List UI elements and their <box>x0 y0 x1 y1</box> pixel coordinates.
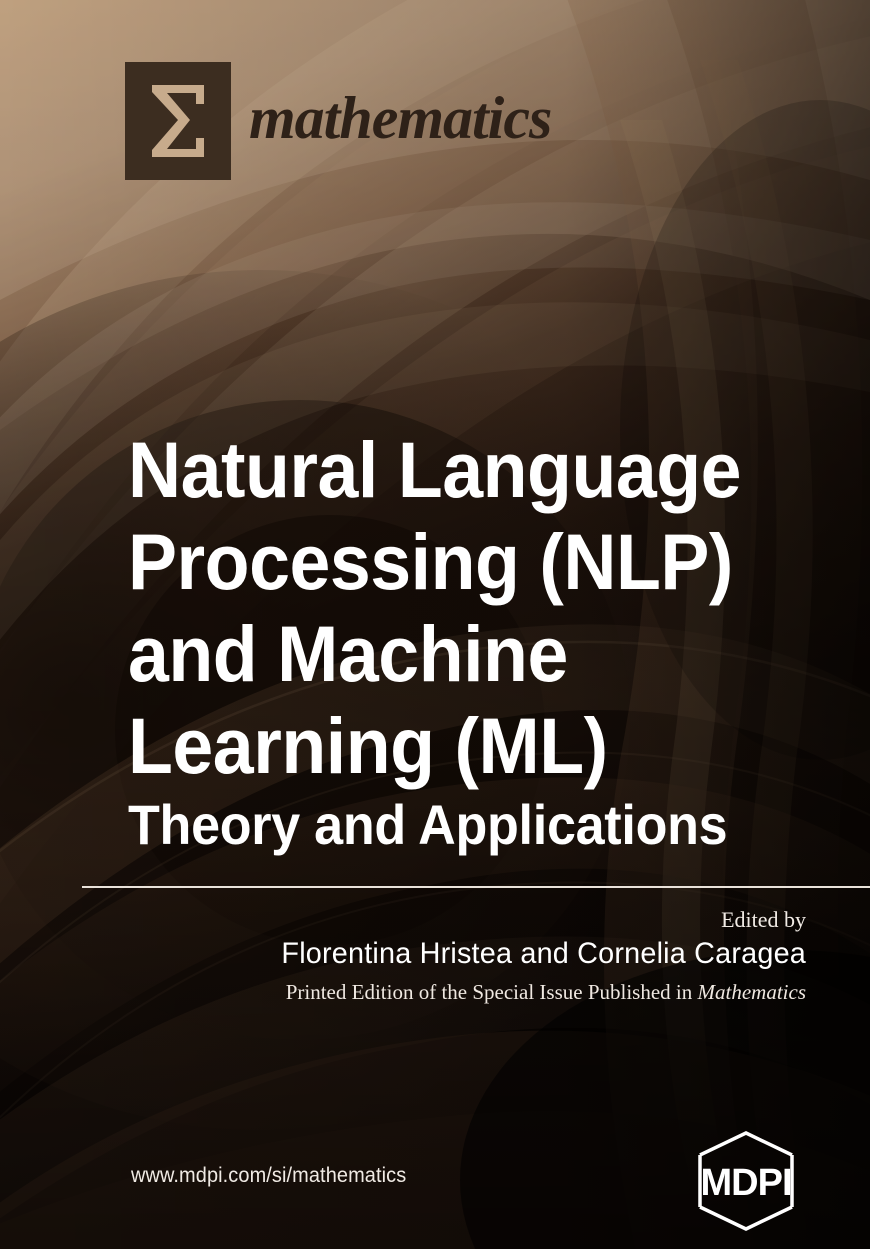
title-line-3: and Machine <box>128 608 779 700</box>
sigma-logo-box <box>125 62 231 180</box>
journal-wordmark: mathematics <box>249 88 551 154</box>
editor-block: Edited by Florentina Hristea and Corneli… <box>46 906 806 1007</box>
title-block: Natural Language Processing (NLP) and Ma… <box>128 424 828 856</box>
book-cover: mathematics Natural Language Processing … <box>0 0 870 1249</box>
special-issue-url[interactable]: www.mdpi.com/si/mathematics <box>131 1164 406 1188</box>
journal-logo: mathematics <box>125 62 551 180</box>
printed-edition-prefix: Printed Edition of the Special Issue Pub… <box>286 980 698 1004</box>
printed-edition-journal-name: Mathematics <box>698 980 806 1004</box>
svg-text:MDPI: MDPI <box>701 1162 792 1204</box>
editor-names: Florentina Hristea and Cornelia Caragea <box>76 934 806 974</box>
book-subtitle: Theory and Applications <box>128 794 779 856</box>
sigma-icon <box>146 82 210 160</box>
title-line-2: Processing (NLP) <box>128 516 779 608</box>
printed-edition-line: Printed Edition of the Special Issue Pub… <box>46 977 806 1007</box>
horizontal-divider <box>82 886 870 888</box>
mdpi-hexagon-logo-icon: MDPI <box>684 1129 808 1233</box>
title-line-1: Natural Language <box>128 424 779 516</box>
title-line-4: Learning (ML) <box>128 700 779 792</box>
edited-by-label: Edited by <box>46 906 806 934</box>
